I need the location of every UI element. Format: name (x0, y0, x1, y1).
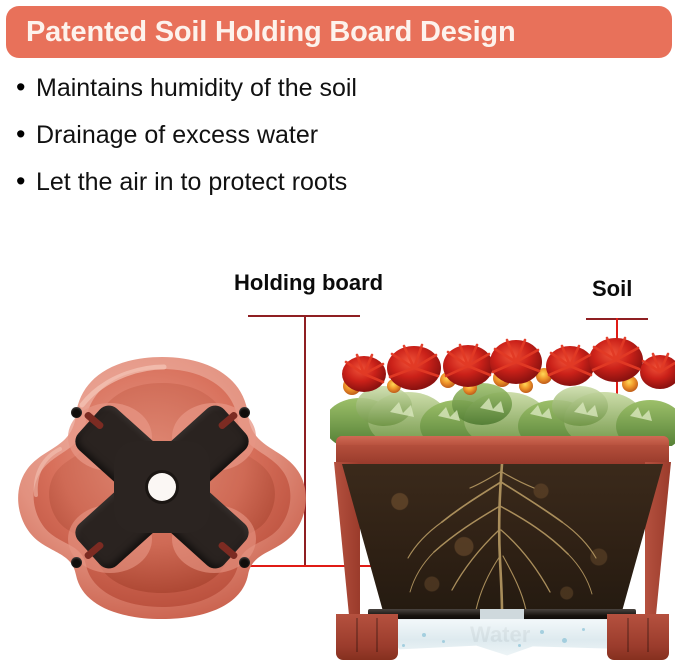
bullet-icon: • (16, 72, 36, 102)
water-speck (442, 640, 445, 643)
pot-top-view (12, 353, 312, 621)
header-banner: Patented Soil Holding Board Design (6, 6, 672, 58)
callout-label-holding-board: Holding board (234, 270, 383, 296)
planter-foot-right (607, 614, 669, 660)
water-speck (582, 628, 585, 631)
product-diagram: Holding board Soil Water (0, 250, 679, 652)
feature-text: Drainage of excess water (36, 119, 318, 151)
holding-board-plate (57, 387, 267, 587)
feature-text: Maintains humidity of the soil (36, 72, 357, 104)
water-speck (540, 630, 544, 634)
planter-rim (336, 436, 669, 466)
water-speck (518, 644, 521, 647)
planter-foot-left (336, 614, 398, 660)
planter-cross-section (330, 328, 675, 628)
feature-item: • Drainage of excess water (16, 119, 576, 153)
plate-screw (71, 557, 82, 568)
water-speck (422, 633, 426, 637)
drainage-hole (148, 473, 176, 501)
feature-list: • Maintains humidity of the soil • Drain… (16, 72, 576, 213)
feature-item: • Maintains humidity of the soil (16, 72, 576, 106)
plate-screw (71, 407, 82, 418)
section-board-gap (480, 609, 524, 620)
flower-foliage (330, 328, 675, 446)
plate-screw (239, 407, 250, 418)
page-title: Patented Soil Holding Board Design (26, 16, 515, 49)
water-speck (402, 644, 405, 647)
feature-item: • Let the air in to protect roots (16, 166, 576, 200)
plate-screw (239, 557, 250, 568)
bullet-icon: • (16, 119, 36, 149)
water-speck (562, 638, 567, 643)
flowers-svg (330, 328, 675, 446)
soil-fill (342, 464, 663, 614)
bullet-icon: • (16, 166, 36, 196)
callout-label-soil: Soil (592, 276, 632, 302)
feature-text: Let the air in to protect roots (36, 166, 347, 198)
water-reservoir (374, 619, 630, 657)
